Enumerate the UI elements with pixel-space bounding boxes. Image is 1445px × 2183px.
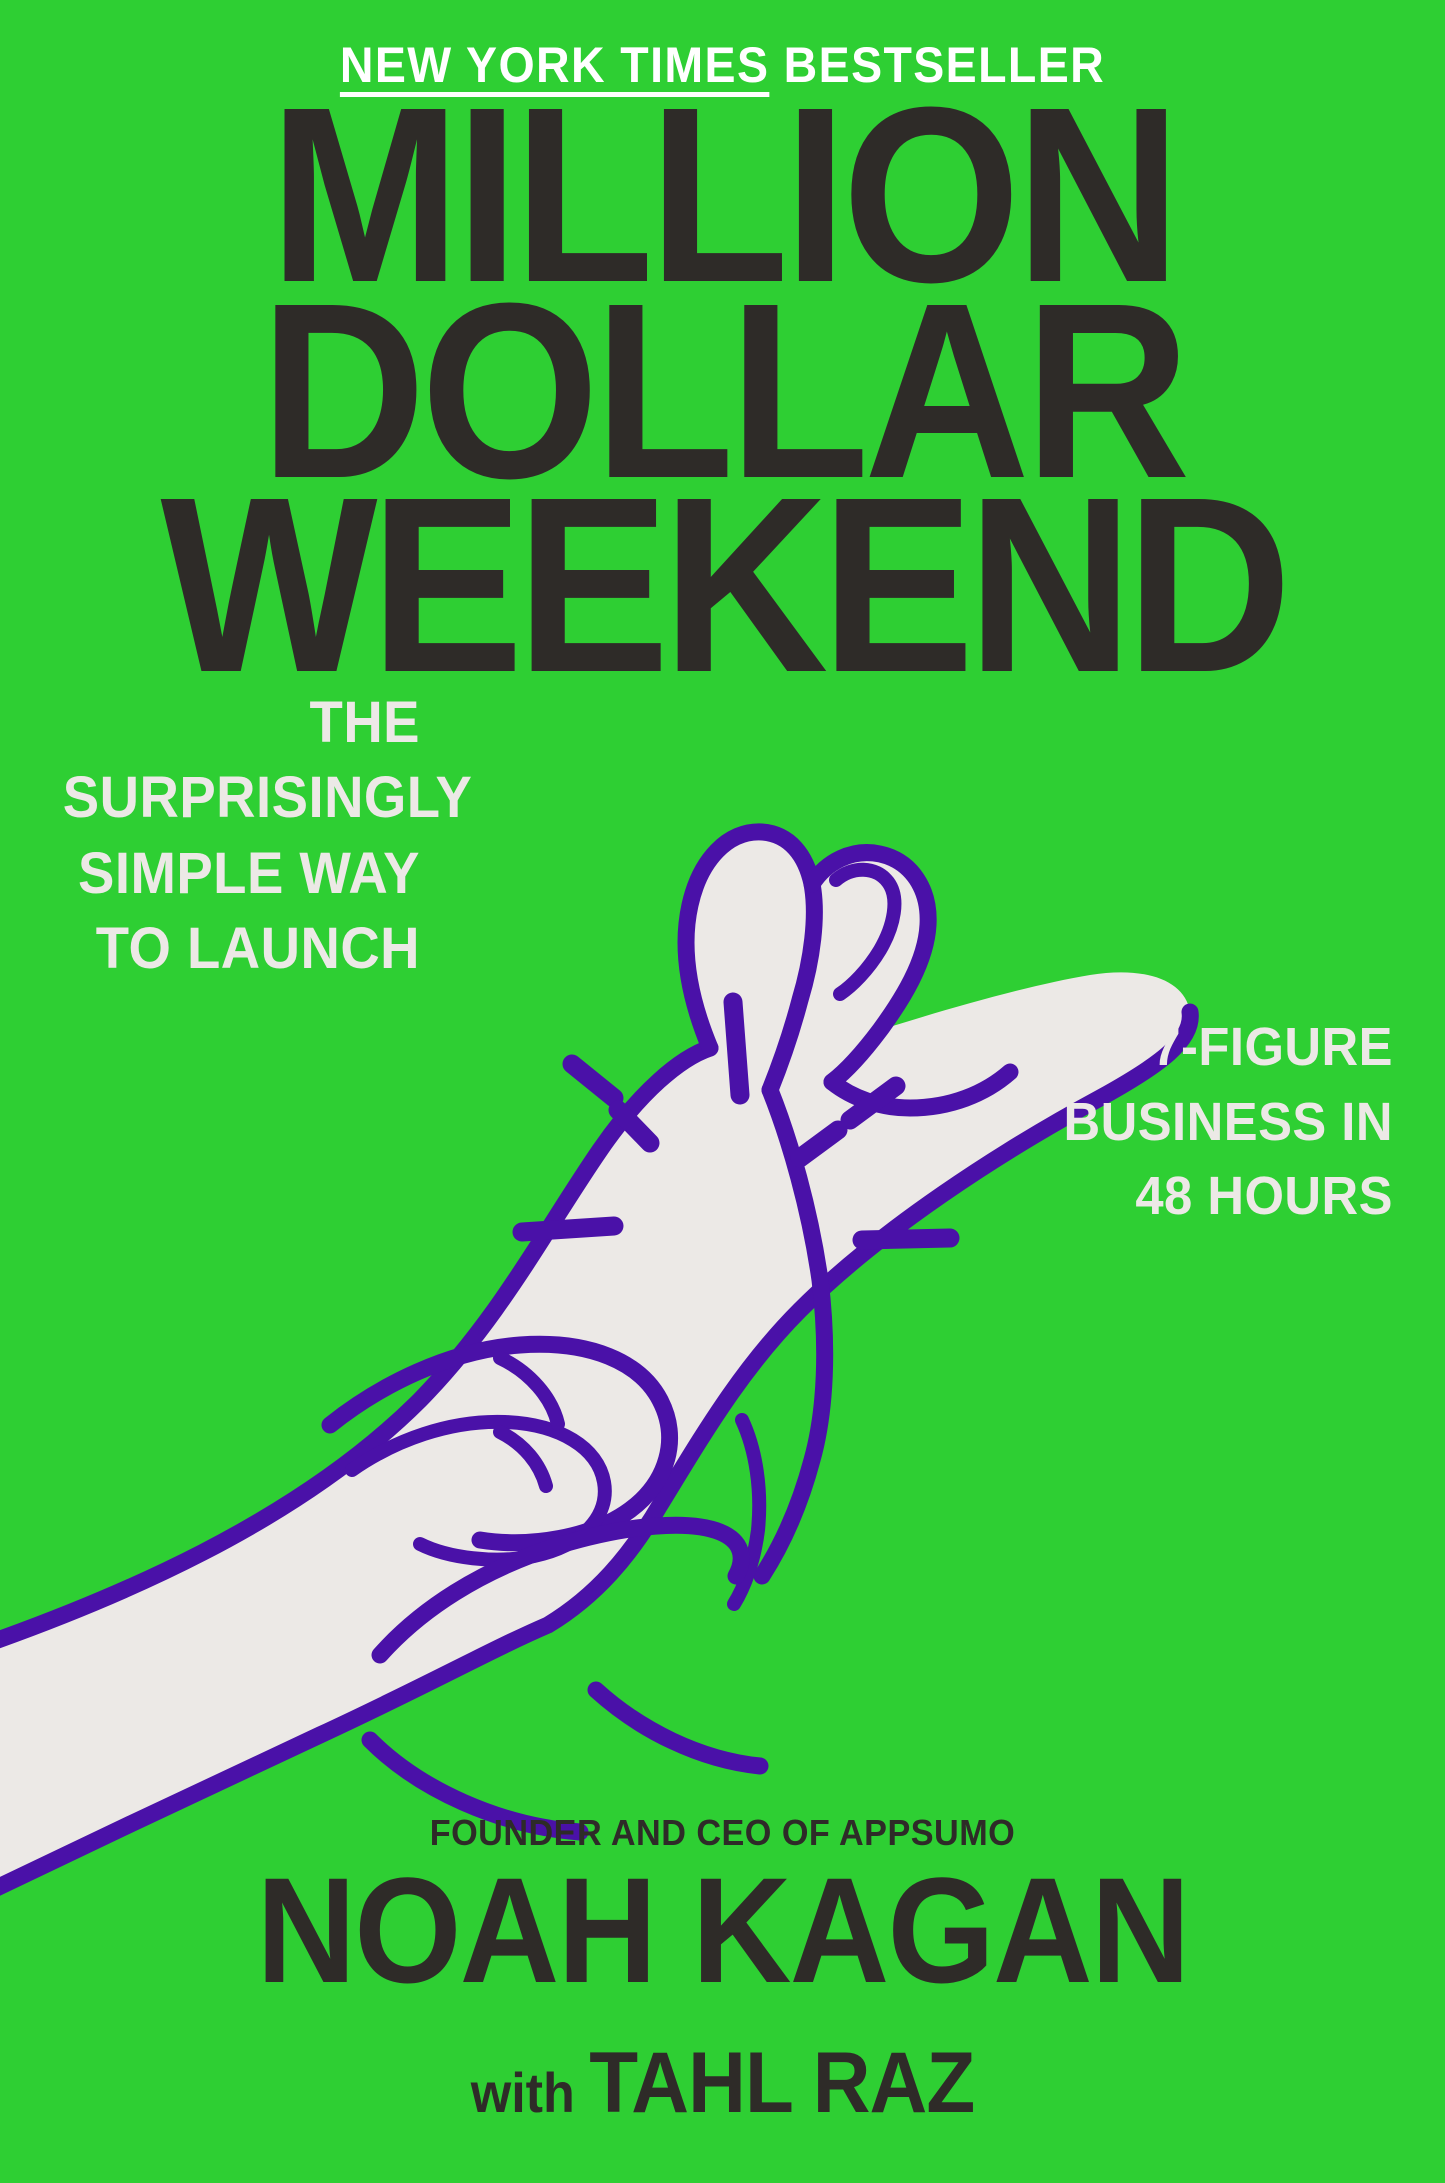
subtitle-right-line-3: 48 HOURS — [998, 1159, 1393, 1234]
sparkle-line-top — [733, 1002, 740, 1095]
extended-finger-stroke — [762, 1090, 825, 1576]
coauthor-prefix: with — [471, 2061, 590, 2124]
subtitle-left-line-4: TO LAUNCH — [63, 911, 420, 986]
subtitle-left-line-1: THE — [63, 685, 420, 760]
coauthor-line: with TAHL RAZ — [51, 2034, 1395, 2133]
sparkle-line-left — [618, 1110, 650, 1143]
sparkle-group — [522, 1002, 950, 1240]
thumbnail-detail — [836, 870, 894, 994]
book-cover: NEW YORK TIMES BESTSELLER MILLION DOLLAR… — [0, 0, 1445, 2183]
page-title-line-3: WEEKEND — [0, 482, 1445, 687]
ring-finger-curl — [352, 1422, 605, 1560]
sparkle-line-upper-left — [572, 1064, 614, 1098]
title-word-weekend: WEEKEND — [58, 482, 1387, 687]
coauthor-name: TAHL RAZ — [589, 2035, 974, 2131]
sparkle-line-far-right — [862, 1238, 950, 1240]
subtitle-left-block: THE SURPRISINGLY SIMPLE WAY TO LAUNCH — [63, 685, 420, 987]
fingernail-line-top — [500, 1358, 558, 1424]
sparkle-line-far-left — [522, 1226, 614, 1232]
author-name: NOAH KAGAN — [58, 1855, 1387, 2005]
fingernail-line-mid — [500, 1432, 546, 1486]
sparkle-line-upper-right — [850, 1086, 896, 1120]
hand-silhouette-fill — [0, 832, 1190, 1915]
subtitle-right-line-1: A 7-FIGURE — [998, 1010, 1393, 1085]
index-finger-stroke — [686, 832, 814, 1090]
extended-finger-inner-stroke — [734, 1420, 759, 1604]
subtitle-right-line-2: BUSINESS IN — [998, 1085, 1393, 1160]
middle-finger-curl — [330, 1344, 670, 1542]
palm-crease-stroke — [380, 1525, 741, 1655]
hand-outline-stroke — [0, 1048, 710, 1660]
thumb-palm-junction — [832, 1072, 1010, 1108]
sparkle-line-right — [800, 1130, 838, 1158]
hand-shape-group — [0, 832, 1190, 1915]
palm-heel-stroke — [596, 1690, 760, 1766]
subtitle-left-line-3: SIMPLE WAY — [63, 836, 420, 911]
thumb-stroke — [812, 853, 928, 1082]
subtitle-right-block: A 7-FIGURE BUSINESS IN 48 HOURS — [998, 1010, 1393, 1234]
subtitle-left-line-2: SURPRISINGLY — [63, 760, 420, 835]
